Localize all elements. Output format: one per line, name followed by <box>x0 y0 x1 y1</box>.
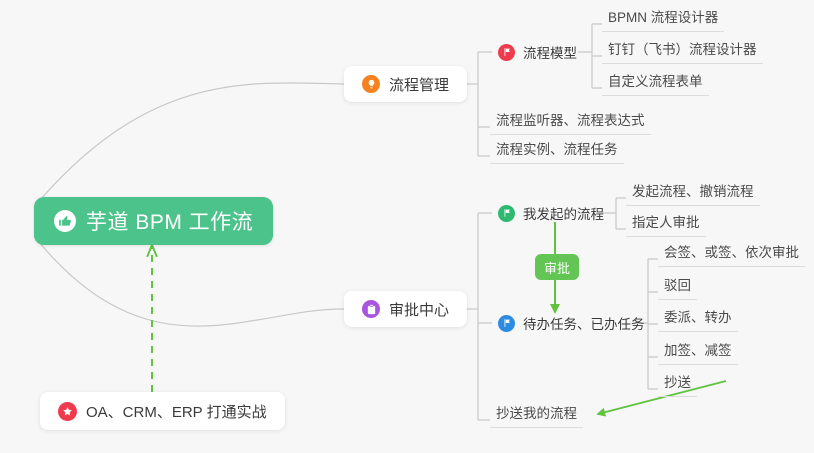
badge-approval-label: 审批 <box>544 258 570 277</box>
flag-icon-red <box>498 44 515 61</box>
bottom-note-label: OA、CRM、ERP 打通实战 <box>86 401 267 422</box>
root-label: 芋道 BPM 工作流 <box>86 206 253 236</box>
leaf-assignee-approval[interactable]: 指定人审批 <box>626 213 706 237</box>
group-label-todo-done-tasks: 待办任务、已办任务 <box>523 313 645 333</box>
group-label-my-initiated: 我发起的流程 <box>523 203 604 223</box>
mindmap-canvas: 芋道 BPM 工作流 流程管理 流程模型 BPMN 流程设计器 钉钉（飞书）流程… <box>0 0 814 453</box>
group-label-process-model: 流程模型 <box>523 42 577 62</box>
leaf-reject[interactable]: 驳回 <box>658 276 697 300</box>
leaf-bpmn-designer[interactable]: BPMN 流程设计器 <box>602 8 724 32</box>
branch-label-process-management: 流程管理 <box>389 74 449 95</box>
leaf-add-remove-sign[interactable]: 加签、减签 <box>658 341 738 365</box>
leaf-cc-my-process[interactable]: 抄送我的流程 <box>490 404 583 428</box>
leaf-process-instance-task[interactable]: 流程实例、流程任务 <box>490 140 624 164</box>
group-node-process-model[interactable]: 流程模型 <box>492 41 583 63</box>
leaf-start-cancel-process[interactable]: 发起流程、撤销流程 <box>626 182 760 206</box>
leaf-cc[interactable]: 抄送 <box>658 373 697 397</box>
clipboard-icon <box>362 300 380 318</box>
flag-icon-blue <box>498 315 515 332</box>
leaf-custom-form[interactable]: 自定义流程表单 <box>602 72 709 96</box>
branch-node-process-management[interactable]: 流程管理 <box>344 66 467 102</box>
leaf-process-listener-expression[interactable]: 流程监听器、流程表达式 <box>490 111 651 135</box>
branch-node-approval-center[interactable]: 审批中心 <box>344 291 467 327</box>
flag-icon-green <box>498 205 515 222</box>
group-node-todo-done-tasks[interactable]: 待办任务、已办任务 <box>492 312 651 334</box>
leaf-delegate-transfer[interactable]: 委派、转办 <box>658 308 738 332</box>
group-node-my-initiated[interactable]: 我发起的流程 <box>492 202 610 224</box>
branch-label-approval-center: 审批中心 <box>389 299 449 320</box>
connector-root-to-approval-center <box>34 236 344 326</box>
leaf-dingtalk-designer[interactable]: 钉钉（飞书）流程设计器 <box>602 40 763 64</box>
badge-approval: 审批 <box>535 254 579 280</box>
leaf-countersign-approval[interactable]: 会签、或签、依次审批 <box>658 243 805 267</box>
star-icon <box>58 402 77 421</box>
root-node[interactable]: 芋道 BPM 工作流 <box>34 197 273 245</box>
thumbs-up-icon <box>54 210 76 232</box>
bottom-note-node[interactable]: OA、CRM、ERP 打通实战 <box>40 392 285 430</box>
connector-root-to-process-management <box>34 83 344 207</box>
lightbulb-icon <box>362 75 380 93</box>
